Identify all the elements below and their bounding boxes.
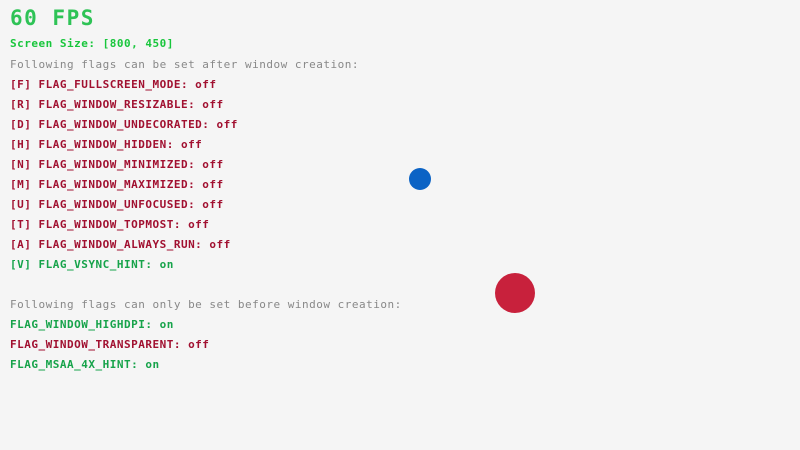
flag-line[interactable]: FLAG_MSAA_4X_HINT: on	[10, 358, 160, 371]
flag-line[interactable]: FLAG_WINDOW_TRANSPARENT: off	[10, 338, 209, 351]
flag-line[interactable]: [F] FLAG_FULLSCREEN_MODE: off	[10, 78, 217, 91]
flag-line[interactable]: [M] FLAG_WINDOW_MAXIMIZED: off	[10, 178, 224, 191]
flag-line[interactable]: [D] FLAG_WINDOW_UNDECORATED: off	[10, 118, 238, 131]
flag-line[interactable]: [N] FLAG_WINDOW_MINIMIZED: off	[10, 158, 224, 171]
flag-line[interactable]: [H] FLAG_WINDOW_HIDDEN: off	[10, 138, 202, 151]
flag-line[interactable]: [U] FLAG_WINDOW_UNFOCUSED: off	[10, 198, 224, 211]
blue-ball	[409, 168, 431, 190]
flag-line[interactable]: [R] FLAG_WINDOW_RESIZABLE: off	[10, 98, 224, 111]
red-ball	[495, 273, 535, 313]
creation-flags-heading: Following flags can only be set before w…	[10, 298, 402, 311]
screen-size-label: Screen Size: [800, 450]	[10, 37, 174, 50]
runtime-flags-heading: Following flags can be set after window …	[10, 58, 359, 71]
flag-line[interactable]: FLAG_WINDOW_HIGHDPI: on	[10, 318, 174, 331]
flag-line[interactable]: [V] FLAG_VSYNC_HINT: on	[10, 258, 174, 271]
app-window: 60 FPS Screen Size: [800, 450] Following…	[0, 0, 800, 450]
fps-counter: 60 FPS	[10, 6, 95, 30]
flag-line[interactable]: [T] FLAG_WINDOW_TOPMOST: off	[10, 218, 209, 231]
flag-line[interactable]: [A] FLAG_WINDOW_ALWAYS_RUN: off	[10, 238, 231, 251]
